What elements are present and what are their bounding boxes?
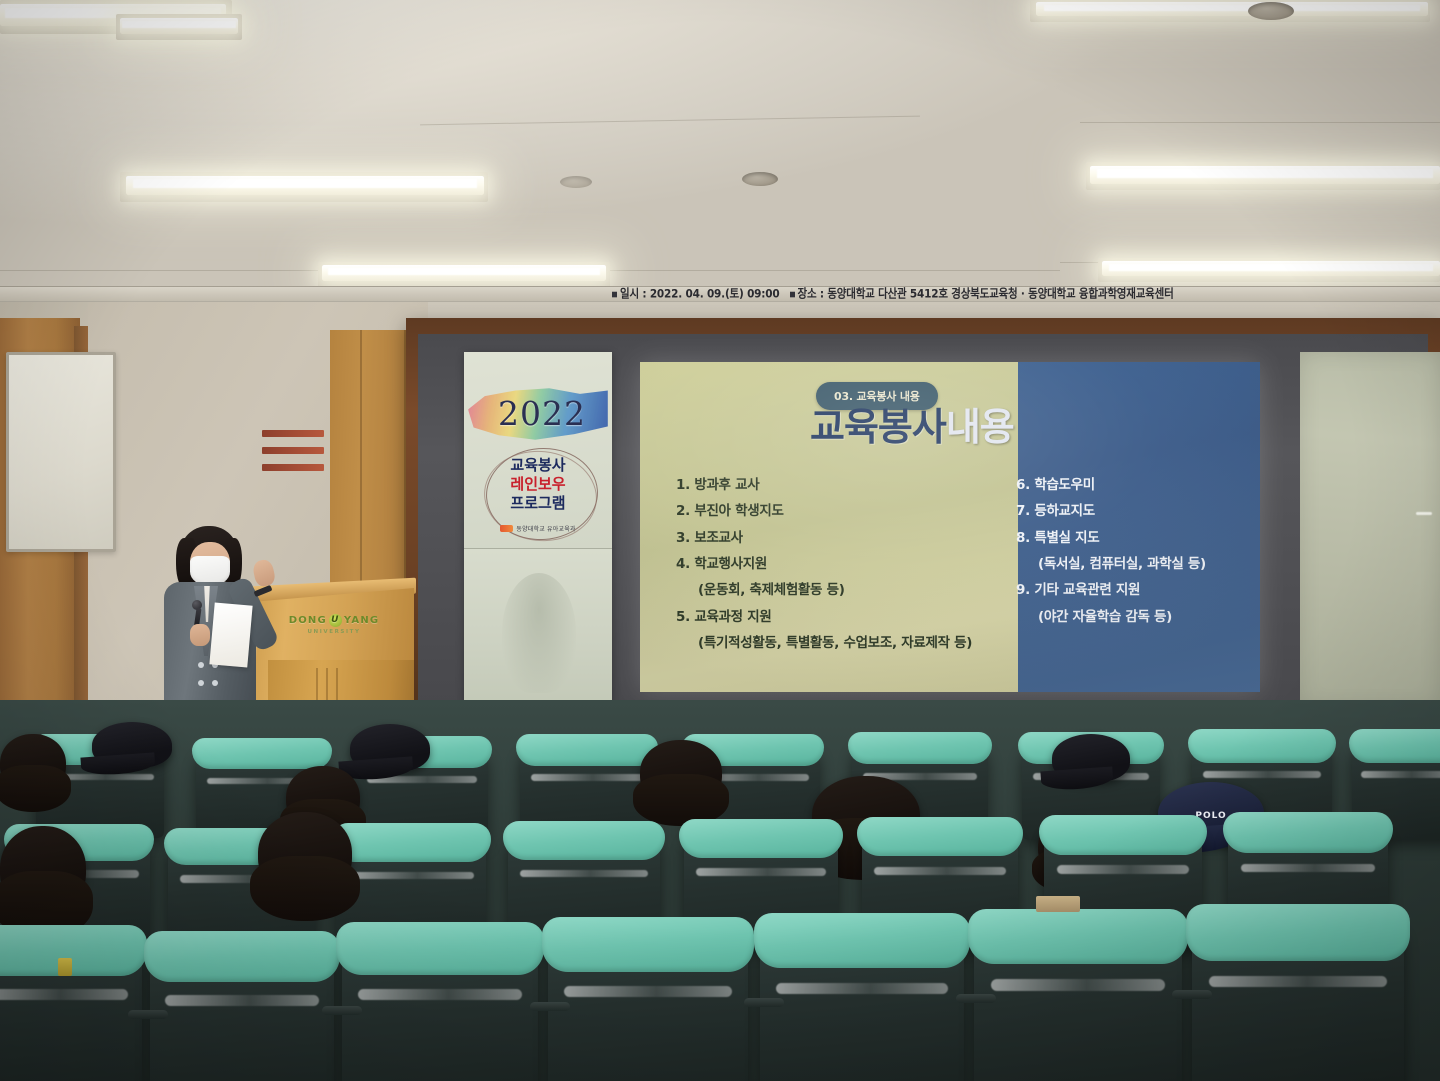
poster-line-2: 레인보우: [464, 475, 612, 494]
audience-head: [0, 734, 66, 794]
list-item: 1. 방과후 교사: [658, 472, 998, 498]
list-item: 4. 학교행사지원: [658, 551, 998, 577]
ceiling-light: [1102, 261, 1440, 276]
ceiling-vent-icon: [560, 176, 592, 188]
wristwatch-icon: [254, 585, 273, 597]
slide-title: 교육봉사내용: [810, 406, 1014, 450]
armrest: [128, 1010, 168, 1019]
program-poster-banner: 2022 교육봉사 레인보우 프로그램 동양대학교 유아교육과: [464, 352, 612, 714]
bullet-square-icon: [612, 291, 617, 297]
armrest: [744, 998, 784, 1007]
audience-head: [258, 812, 352, 896]
seat: [150, 950, 334, 1081]
audience-head: [0, 826, 86, 912]
seat: [1192, 926, 1404, 1081]
ceiling-seam: [1080, 122, 1440, 123]
armrest: [322, 1006, 362, 1015]
list-item: (독서실, 컴퓨터실, 과학실 등): [1004, 551, 1254, 577]
ceiling-vent-icon: [1248, 2, 1294, 20]
poster-org-logo: 동양대학교 유아교육과: [464, 524, 612, 533]
list-item: 3. 보조교사: [658, 525, 998, 551]
baseball-cap: [350, 724, 430, 772]
armrest: [1172, 990, 1212, 999]
wall-whiteboard: [6, 352, 116, 552]
audience-head: [640, 740, 722, 806]
lecture-hall-photo: 일시 : 2022. 04. 09.(토) 09:00 장소 : 동양대학교 다…: [0, 0, 1440, 1081]
presenter-papers: [209, 602, 252, 667]
banner-venue: 장소 : 동양대학교 다산관 5412호 경상북도교육청 · 동양대학교 융합과…: [790, 288, 1174, 300]
ceiling-vent-icon: [742, 172, 778, 186]
podium-brand-logo: DONG U YANG: [274, 614, 394, 627]
ceiling-light: [126, 176, 484, 195]
presenter-raised-hand: [252, 558, 277, 588]
projected-slide: 03. 교육봉사 내용 교육봉사내용 1. 방과후 교사 2. 부진아 학생지도…: [640, 362, 1260, 692]
poster-shadow-silhouette: [502, 573, 576, 693]
list-item: 6. 학습도우미: [1004, 472, 1254, 498]
armrest: [956, 994, 996, 1003]
ceiling-light: [1036, 2, 1428, 16]
bullet-square-icon: [790, 291, 795, 297]
podium-brand-1: DONG: [289, 615, 327, 626]
baseball-cap: [92, 722, 172, 768]
list-item: (운동회, 축제체험활동 등): [658, 577, 998, 603]
list-item: 7. 등하교지도: [1004, 498, 1254, 524]
list-item: 2. 부진아 학생지도: [658, 498, 998, 524]
poster-year: 2022: [472, 390, 612, 438]
ceiling-light: [1090, 166, 1440, 184]
slide-title-left: 교육봉사: [810, 405, 946, 449]
personal-item: [58, 958, 72, 976]
baseball-cap: [1052, 734, 1130, 782]
list-item: 5. 교육과정 지원: [658, 604, 998, 630]
slide-title-right: 내용: [946, 405, 1014, 449]
seat: [760, 934, 964, 1081]
armrest: [530, 1002, 570, 1011]
presenter-mic-hand: [190, 624, 210, 646]
list-item: (야간 자율학습 감독 등): [1004, 604, 1254, 630]
banner-datetime: 일시 : 2022. 04. 09.(토) 09:00: [612, 288, 780, 300]
poster-title-block: 교육봉사 레인보우 프로그램: [464, 456, 612, 514]
poster-line-3: 프로그램: [464, 494, 612, 513]
list-item: 8. 특별실 지도: [1004, 525, 1254, 551]
poster-line-1: 교육봉사: [464, 456, 612, 475]
list-item: (특기적성활동, 특별활동, 수업보조, 자료제작 등): [658, 630, 998, 656]
screen-glint: [1416, 512, 1432, 515]
secondary-screen: [1300, 352, 1440, 708]
org-mark-icon: [500, 525, 513, 532]
audience-seating: POLO: [0, 700, 1440, 1081]
u-mark-icon: U: [329, 614, 342, 627]
desk-paper: [1036, 896, 1080, 912]
ceiling-light: [120, 18, 238, 34]
ceiling: [0, 0, 1440, 300]
slide-list-left: 1. 방과후 교사 2. 부진아 학생지도 3. 보조교사 4. 학교행사지원 …: [658, 472, 998, 656]
seat: [548, 938, 748, 1081]
poster-lower-blank: [464, 548, 612, 714]
ceiling-light: [322, 265, 606, 281]
podium-subtitle: UNIVERSITY: [274, 629, 394, 635]
wall-decor-stripes: [262, 430, 324, 488]
event-info-banner: 일시 : 2022. 04. 09.(토) 09:00 장소 : 동양대학교 다…: [0, 286, 1440, 302]
seat: [974, 930, 1182, 1081]
poster-org-name: 동양대학교 유아교육과: [516, 524, 575, 533]
list-item: 9. 기타 교육관련 지원: [1004, 577, 1254, 603]
podium-brand-2: YANG: [344, 615, 379, 626]
slide-list-right: 6. 학습도우미 7. 등하교지도 8. 특별실 지도 (독서실, 컴퓨터실, …: [1004, 472, 1254, 630]
seat: [342, 942, 538, 1081]
